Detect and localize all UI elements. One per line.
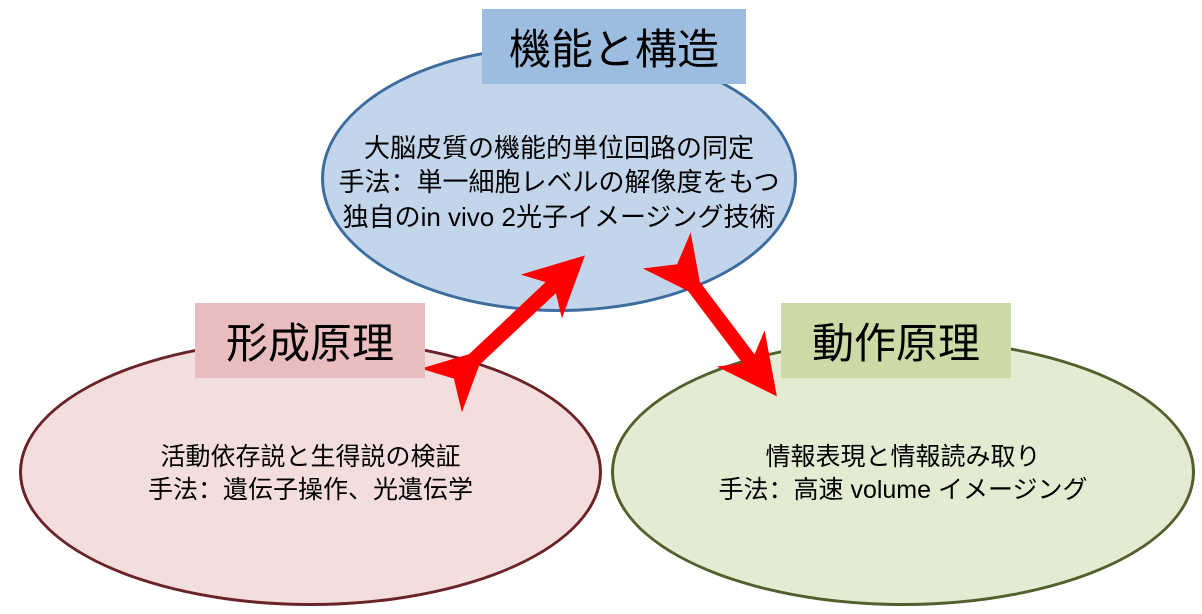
ellipse-left-body-text: 活動依存説と生得説の検証 手法：遺伝子操作、光遺伝学 (148, 441, 473, 508)
label-left-text: 形成原理 (226, 310, 394, 371)
label-formation-principle[interactable]: 形成原理 (195, 303, 425, 378)
label-right-text: 動作原理 (812, 310, 980, 371)
ellipse-formation-principle[interactable]: 活動依存説と生得説の検証 手法：遺伝子操作、光遺伝学 (19, 338, 602, 606)
ellipse-operating-principle[interactable]: 情報表現と情報読み取り 手法：高速 volume イメージング (611, 338, 1195, 606)
ellipse-right-body-text: 情報表現と情報読み取り 手法：高速 volume イメージング (719, 441, 1088, 508)
label-operating-principle[interactable]: 動作原理 (781, 303, 1011, 378)
diagram-canvas: 大脳皮質の機能的単位回路の同定 手法：単一細胞レベルの解像度をもつ 独自のin … (0, 0, 1202, 614)
label-function-and-structure[interactable]: 機能と構造 (482, 9, 746, 84)
label-top-text: 機能と構造 (509, 16, 719, 77)
ellipse-top-body-text: 大脳皮質の機能的単位回路の同定 手法：単一細胞レベルの解像度をもつ 独自のin … (339, 131, 780, 235)
ellipse-function-and-structure[interactable]: 大脳皮質の機能的単位回路の同定 手法：単一細胞レベルの解像度をもつ 独自のin … (321, 45, 797, 312)
